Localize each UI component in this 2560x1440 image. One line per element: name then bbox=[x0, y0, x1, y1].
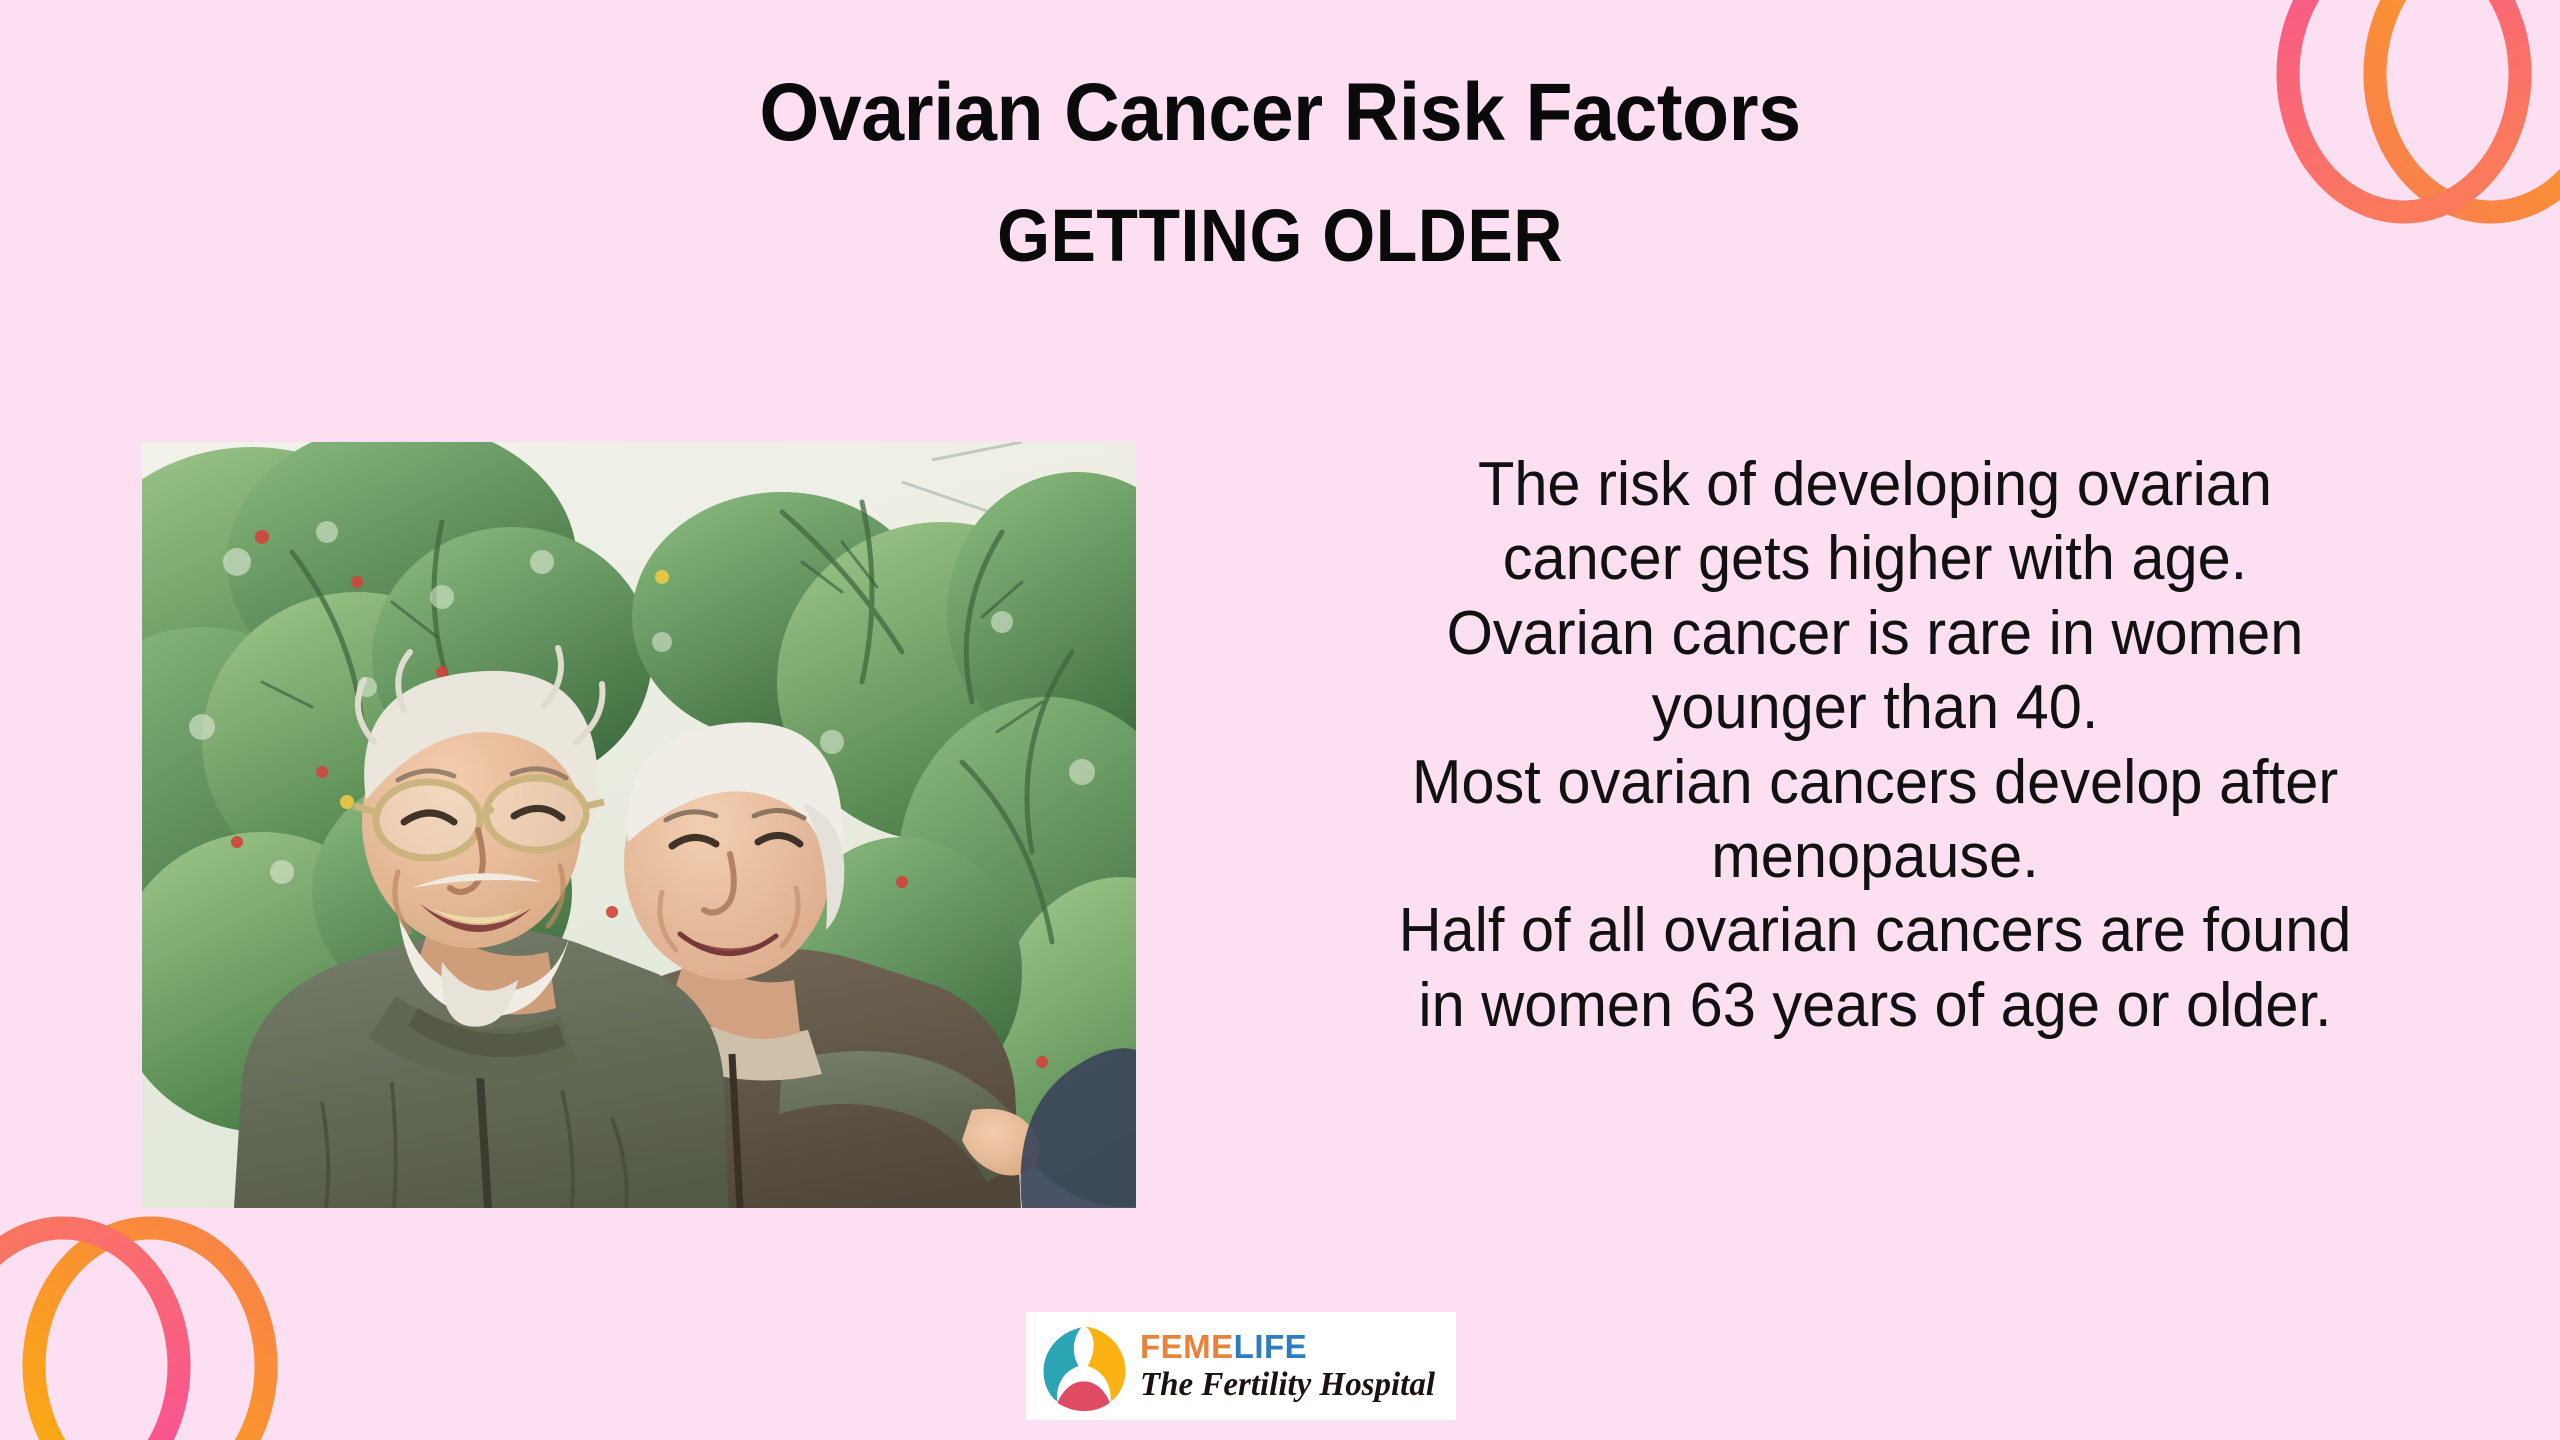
body-copy: The risk of developing ovarian cancer ge… bbox=[1240, 448, 2510, 1043]
body-line-5: Most ovarian cancers develop after bbox=[1265, 746, 2484, 820]
femelife-tagline: The Fertility Hospital bbox=[1140, 1367, 1435, 1403]
wordmark-life: LIFE bbox=[1234, 1328, 1308, 1365]
body-line-3: Ovarian cancer is rare in women bbox=[1265, 597, 2484, 671]
femelife-logo-text: FEMELIFE The Fertility Hospital bbox=[1140, 1330, 1444, 1403]
body-line-1: The risk of developing ovarian bbox=[1265, 448, 2484, 522]
decorative-rings-bottom-left bbox=[0, 1200, 278, 1440]
couple-photo-illustration bbox=[142, 442, 1136, 1208]
body-line-2: cancer gets higher with age. bbox=[1265, 522, 2484, 596]
body-line-4: younger than 40. bbox=[1265, 671, 2484, 745]
couple-photo bbox=[142, 442, 1136, 1208]
heading-block: Ovarian Cancer Risk Factors GETTING OLDE… bbox=[0, 70, 2560, 275]
page-title: Ovarian Cancer Risk Factors bbox=[77, 70, 2483, 157]
wordmark-feme: FEME bbox=[1140, 1328, 1234, 1365]
rings-bottom-left-icon bbox=[0, 1200, 278, 1440]
femelife-trifold-icon bbox=[1038, 1320, 1130, 1412]
body-line-6: menopause. bbox=[1265, 820, 2484, 894]
page-subtitle: GETTING OLDER bbox=[102, 197, 2457, 275]
femelife-logo: FEMELIFE The Fertility Hospital bbox=[1026, 1312, 1456, 1420]
body-line-8: in women 63 years of age or older. bbox=[1265, 969, 2484, 1043]
body-line-7: Half of all ovarian cancers are found bbox=[1265, 894, 2484, 968]
femelife-wordmark: FEMELIFE bbox=[1140, 1330, 1444, 1363]
